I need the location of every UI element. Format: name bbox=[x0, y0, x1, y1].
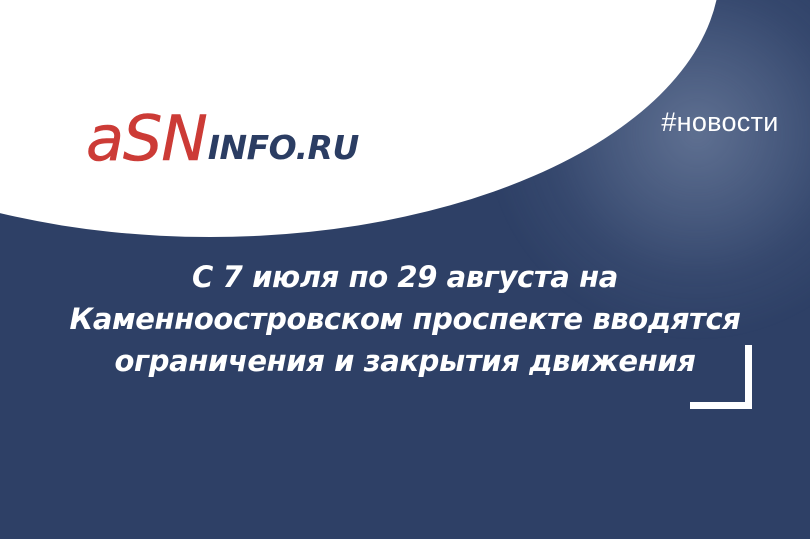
logo-info-text: INFO.RU bbox=[208, 131, 359, 164]
headline-line-3: ограничения и закрытия движения bbox=[18, 340, 792, 382]
hashtag-novosti[interactable]: #новости bbox=[640, 108, 800, 138]
headline-line-2: Каменноостровском проспекте вводятся bbox=[18, 298, 792, 340]
asninfo-logo[interactable]: aSN INFO.RU bbox=[86, 108, 359, 170]
logo-asn-text: aSN bbox=[86, 108, 207, 170]
news-card: aSN INFO.RU #новости С 7 июля по 29 авгу… bbox=[0, 0, 810, 539]
headline: С 7 июля по 29 августа на Каменноостровс… bbox=[0, 256, 810, 382]
headline-line-1: С 7 июля по 29 августа на bbox=[18, 256, 792, 298]
